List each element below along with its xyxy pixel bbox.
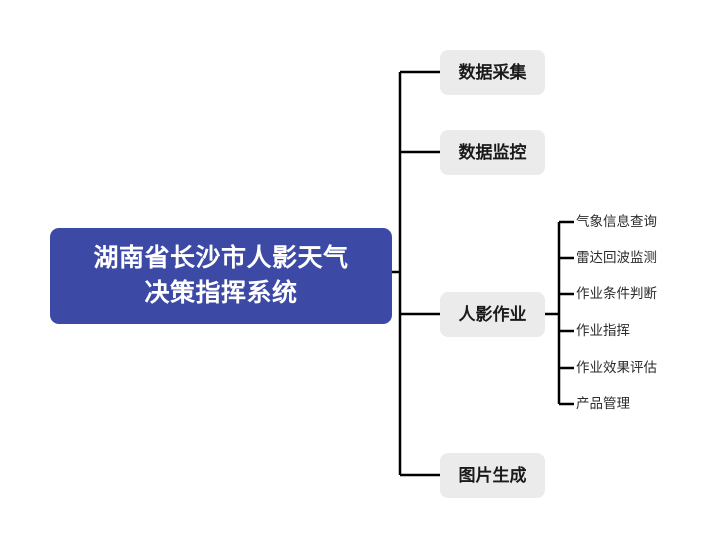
branch-node-weather-modification[interactable]: 人影作业 — [440, 292, 545, 337]
branch-node-data-monitoring[interactable]: 数据监控 — [440, 130, 545, 175]
mindmap-canvas: 湖南省长沙市人影天气 决策指挥系统 数据采集 数据监控 人影作业 图片生成 气象… — [0, 0, 718, 547]
leaf-item-radar-echo-monitoring[interactable]: 雷达回波监测 — [576, 249, 657, 267]
leaf-item-weather-info-query[interactable]: 气象信息查询 — [576, 213, 657, 231]
leaf-label: 作业效果评估 — [576, 361, 657, 375]
root-node-title: 湖南省长沙市人影天气 决策指挥系统 — [93, 241, 348, 312]
leaf-label: 雷达回波监测 — [576, 251, 657, 265]
leaf-item-product-management[interactable]: 产品管理 — [576, 395, 630, 413]
branch-node-image-generation[interactable]: 图片生成 — [440, 453, 545, 498]
branch-label: 人影作业 — [459, 306, 527, 323]
root-node[interactable]: 湖南省长沙市人影天气 决策指挥系统 — [50, 228, 392, 324]
branch-label: 图片生成 — [459, 467, 527, 484]
leaf-item-operation-command[interactable]: 作业指挥 — [576, 322, 630, 340]
leaf-label: 气象信息查询 — [576, 215, 657, 229]
leaf-item-operation-effect-evaluation[interactable]: 作业效果评估 — [576, 359, 657, 377]
leaf-item-operation-condition-assessment[interactable]: 作业条件判断 — [576, 285, 657, 303]
branch-node-data-collection[interactable]: 数据采集 — [440, 50, 545, 95]
branch-label: 数据采集 — [459, 64, 527, 81]
leaf-label: 产品管理 — [576, 397, 630, 411]
leaf-label: 作业条件判断 — [576, 287, 657, 301]
leaf-label: 作业指挥 — [576, 324, 630, 338]
branch-label: 数据监控 — [459, 144, 527, 161]
